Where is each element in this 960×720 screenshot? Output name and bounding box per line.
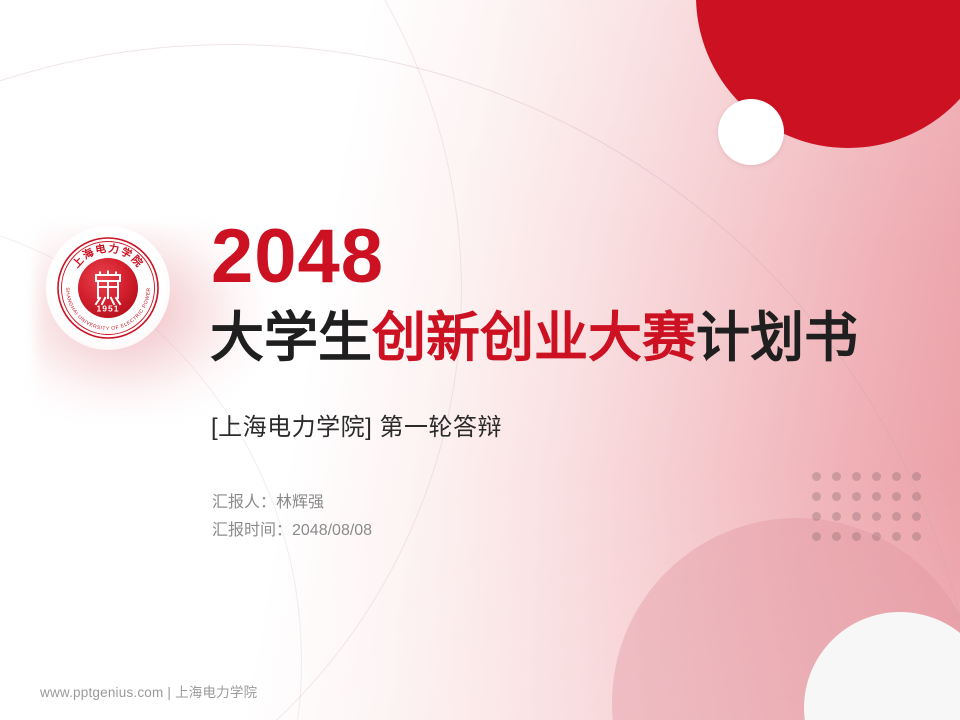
white-circle-decoration-top [718,99,784,165]
title-segment-3: 计划书 [696,308,858,368]
date-line: 汇报时间：2048/08/08 [212,517,372,545]
footer-credit: www.pptgenius.com | 上海电力学院 [40,681,257,701]
svg-text:1951: 1951 [97,304,120,314]
title-segment-2: 创新创业大赛 [372,308,696,368]
title-segment-1: 大学生 [210,308,372,368]
year-number: 2048 [211,219,384,295]
university-logo: 上海电力学院 SHANGHAI UNIVERSITY OF ELECTRIC P… [54,234,162,342]
subtitle: [上海电力学院] 第一轮答辩 [211,407,502,442]
page-title: 大学生创新创业大赛计划书 [210,308,858,368]
presenter-line: 汇报人：林辉强 [212,489,372,517]
presentation-meta: 汇报人：林辉强 汇报时间：2048/08/08 [212,489,372,544]
presentation-title-slide: 上海电力学院 SHANGHAI UNIVERSITY OF ELECTRIC P… [0,0,960,720]
dot-grid-decoration [812,472,932,552]
university-seal-icon: 上海电力学院 SHANGHAI UNIVERSITY OF ELECTRIC P… [54,234,162,342]
